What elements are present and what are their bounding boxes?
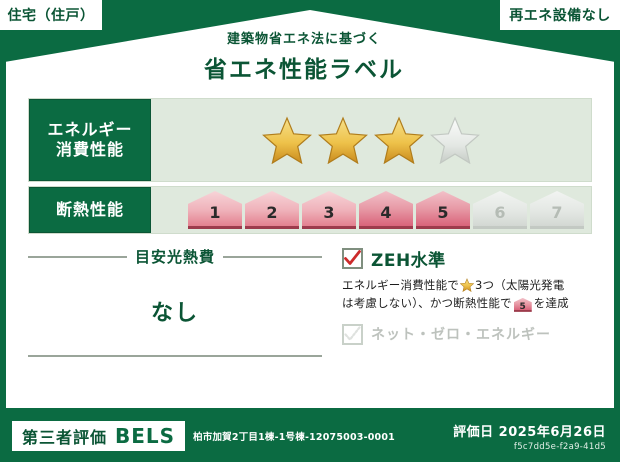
renewable-equipment-tag-label: 再エネ設備なし xyxy=(509,5,611,25)
energy-performance-row: エネルギー 消費性能 xyxy=(28,98,592,182)
energy-performance-label: エネルギー 消費性能 xyxy=(29,99,151,181)
insulation-performance-row: 断熱性能 1 2 3 4 5 6 7 xyxy=(28,186,592,234)
energy-performance-label-line1: エネルギー xyxy=(47,120,132,140)
check-icon xyxy=(342,248,363,269)
zeh-checkbox[interactable] xyxy=(342,248,363,269)
inline-grade-badge: 5 xyxy=(514,298,532,312)
insulation-grade-scale: 1 2 3 4 5 6 7 xyxy=(151,187,591,233)
zeh-panel: ZEH水準 エネルギー消費性能で3つ（太陽光発電 は考慮しない）、かつ断熱性能で… xyxy=(328,246,592,388)
net-zero-label: ネット・ゼロ・エネルギー xyxy=(371,324,551,344)
zeh-description: エネルギー消費性能で3つ（太陽光発電 は考慮しない）、かつ断熱性能で5を達成 xyxy=(342,277,592,313)
evaluation-date: 評価日 2025年6月26日 xyxy=(453,421,606,440)
property-address: 柏市加賀2丁目1棟-1号棟-12075003-0001 xyxy=(193,429,395,443)
bels-logo: BELS xyxy=(115,424,175,448)
evaluation-id: f5c7dd5e-f2a9-41d5 xyxy=(453,442,606,452)
evaluation-info: 評価日 2025年6月26日 f5c7dd5e-f2a9-41d5 xyxy=(453,421,606,452)
zeh-desc-star-count: 3つ（太陽光発電 xyxy=(475,278,564,292)
rule-left xyxy=(28,256,127,258)
check-icon-faded xyxy=(342,324,363,345)
rule-right xyxy=(223,256,322,258)
net-zero-checkbox[interactable] xyxy=(342,324,363,345)
label-content: エネルギー 消費性能 xyxy=(28,98,592,394)
building-type-tag: 住宅（住戸） xyxy=(0,0,104,32)
evaluation-date-value: 2025年6月26日 xyxy=(499,425,606,440)
bels-chip: 第三者評価 BELS xyxy=(12,421,185,451)
zeh-desc-part2: は考慮しない）、かつ断熱性能で xyxy=(342,296,512,310)
zeh-title: ZEH水準 xyxy=(371,246,446,271)
insulation-performance-label-text: 断熱性能 xyxy=(56,200,124,220)
energy-star-rating xyxy=(151,99,591,181)
utility-cost-value: なし xyxy=(28,267,322,355)
grade-badge: 7 xyxy=(530,191,584,229)
star-filled-icon xyxy=(318,116,368,164)
grade-badge: 1 xyxy=(188,191,242,229)
utility-cost-header: 目安光熱費 xyxy=(28,246,322,267)
page-title: 省エネ性能ラベル xyxy=(204,50,404,84)
third-party-label: 第三者評価 xyxy=(22,424,107,448)
star-empty-icon xyxy=(430,116,480,164)
label-footer: 第三者評価 BELS 柏市加賀2丁目1棟-1号棟-12075003-0001 評… xyxy=(0,410,620,462)
building-type-tag-label: 住宅（住戸） xyxy=(8,5,95,25)
zeh-header: ZEH水準 xyxy=(342,246,592,271)
evaluation-date-label: 評価日 xyxy=(453,425,494,440)
label-bottom-section: 目安光熱費 なし ZEH水準 エネルギー消費性能で3つ（太陽光発電 xyxy=(28,246,592,388)
utility-cost-panel: 目安光熱費 なし xyxy=(28,246,328,388)
energy-performance-label: 住宅（住戸） 再エネ設備なし 建築物省エネ法に基づく 省エネ性能ラベル エネルギ… xyxy=(0,0,620,462)
grade-badge: 5 xyxy=(416,191,470,229)
inline-star-icon xyxy=(460,278,474,292)
zeh-desc-part1: エネルギー消費性能で xyxy=(342,278,459,292)
zeh-desc-part3: を達成 xyxy=(534,296,569,310)
utility-cost-bottom-rule xyxy=(28,355,322,357)
grade-badge: 3 xyxy=(302,191,356,229)
grade-badge: 6 xyxy=(473,191,527,229)
net-zero-energy-row: ネット・ゼロ・エネルギー xyxy=(342,324,592,345)
insulation-performance-label: 断熱性能 xyxy=(29,187,151,233)
grade-badge: 4 xyxy=(359,191,413,229)
star-filled-icon xyxy=(262,116,312,164)
energy-performance-label-line2: 消費性能 xyxy=(56,140,124,160)
grade-badge: 2 xyxy=(245,191,299,229)
header-subtitle: 建築物省エネ法に基づく xyxy=(227,28,381,47)
utility-cost-title: 目安光熱費 xyxy=(135,246,215,267)
star-filled-icon xyxy=(374,116,424,164)
renewable-equipment-tag: 再エネ設備なし xyxy=(498,0,620,32)
